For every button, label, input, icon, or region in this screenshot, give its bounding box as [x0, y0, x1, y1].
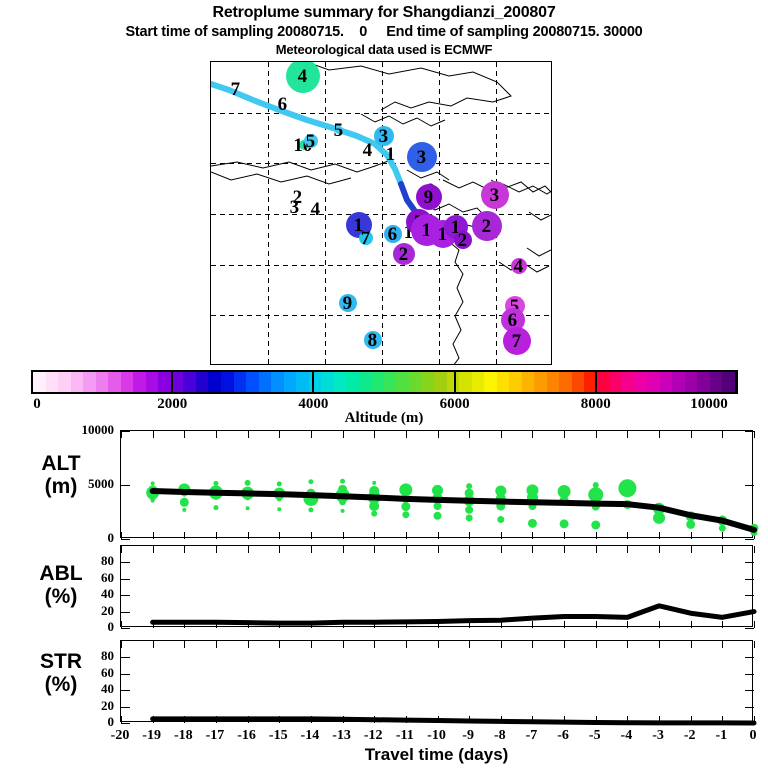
colorbar-cell	[33, 372, 46, 392]
map-marker-label: 4	[311, 200, 321, 219]
colorbar-cell	[346, 372, 359, 392]
alt-y-tick-label: 10000	[40, 422, 114, 438]
map-marker-label: 7	[361, 229, 371, 248]
abl-y-tick-label: 80	[40, 553, 114, 569]
map-marker-label: 6	[388, 225, 398, 244]
x-tick-label: -15	[269, 728, 288, 744]
colorbar-separator	[736, 370, 738, 394]
retroplume-map[interactable]: 4765105431323409176151112322495678	[210, 61, 552, 365]
alt-row-label-line1: ALT	[8, 452, 114, 475]
colorbar-cell	[635, 372, 648, 392]
colorbar-cell	[484, 372, 497, 392]
x-tick-label: -3	[652, 728, 664, 744]
x-tick-label: -20	[111, 728, 130, 744]
str-y-tick-label: 80	[40, 648, 114, 664]
x-tick-label: -7	[526, 728, 538, 744]
colorbar-cell	[83, 372, 96, 392]
colorbar-cell	[71, 372, 84, 392]
alt-y-tick-label: 0	[40, 530, 114, 546]
colorbar-cell	[622, 372, 635, 392]
alt-chart-graphics	[121, 431, 754, 539]
alt-chart-panel[interactable]	[120, 430, 753, 538]
str-y-tick-label: 20	[40, 698, 114, 714]
x-tick-label: -10	[427, 728, 446, 744]
colorbar-cell	[321, 372, 334, 392]
map-marker-label: 7	[512, 332, 522, 351]
colorbar-cell	[133, 372, 146, 392]
colorbar-cell	[547, 372, 560, 392]
colorbar-cell	[309, 372, 322, 392]
abl-y-tick-label: 60	[40, 570, 114, 586]
colorbar-separator	[171, 370, 173, 394]
str-y-tick-label: 0	[40, 714, 114, 730]
str-y-tick-label: 60	[40, 665, 114, 681]
colorbar-axis-title: Altitude (m)	[0, 410, 768, 427]
map-marker-label: 7	[231, 80, 241, 99]
colorbar-cell	[58, 372, 71, 392]
str-chart-panel[interactable]	[120, 640, 753, 722]
map-marker-label: 8	[368, 331, 378, 350]
colorbar-cell	[522, 372, 535, 392]
colorbar-cell	[572, 372, 585, 392]
colorbar-cell	[196, 372, 209, 392]
colorbar-cell	[208, 372, 221, 392]
colorbar-cell	[396, 372, 409, 392]
map-marker-label: 5	[306, 132, 316, 151]
abl-chart-panel[interactable]	[120, 545, 753, 627]
abl-y-tick-label: 20	[40, 603, 114, 619]
x-tick-label: -11	[396, 728, 414, 744]
x-tick-label: -5	[589, 728, 601, 744]
map-marker-label: 2	[399, 245, 409, 264]
colorbar-cell	[472, 372, 485, 392]
x-tick-label: -2	[684, 728, 696, 744]
x-tick-label: -1	[716, 728, 728, 744]
x-tick-label: -13	[332, 728, 351, 744]
colorbar-cell	[710, 372, 723, 392]
str-chart-graphics	[121, 641, 754, 723]
colorbar-cell	[534, 372, 547, 392]
colorbar-cell	[459, 372, 472, 392]
colorbar-cell	[284, 372, 297, 392]
colorbar-cell	[497, 372, 510, 392]
colorbar-cell	[221, 372, 234, 392]
colorbar-cell	[434, 372, 447, 392]
alt-y-tick-label: 5000	[40, 476, 114, 492]
map-marker-label: 5	[334, 121, 344, 140]
colorbar-cell	[359, 372, 372, 392]
map-marker-label: 9	[424, 188, 434, 207]
colorbar-cell	[559, 372, 572, 392]
colorbar-cell	[409, 372, 422, 392]
colorbar-cell	[158, 372, 171, 392]
colorbar-cell	[509, 372, 522, 392]
colorbar-separator	[312, 370, 314, 394]
colorbar-cell	[647, 372, 660, 392]
map-marker-label: 3	[379, 127, 389, 146]
colorbar-cell	[121, 372, 134, 392]
colorbar-cell	[108, 372, 121, 392]
sampling-time-subtitle: Start time of sampling 20080715. 0 End t…	[0, 23, 768, 42]
colorbar-cell	[597, 372, 610, 392]
colorbar-cell	[296, 372, 309, 392]
x-tick-label: -12	[364, 728, 383, 744]
map-marker-label: 3	[290, 198, 300, 217]
altitude-colorbar	[31, 370, 737, 394]
colorbar-cell	[421, 372, 434, 392]
colorbar-cell	[660, 372, 673, 392]
map-marker-label: 9	[343, 294, 353, 313]
colorbar-cell	[334, 372, 347, 392]
map-marker-label: 4	[363, 141, 373, 160]
colorbar-cell	[183, 372, 196, 392]
x-tick-label: -19	[142, 728, 161, 744]
colorbar-cell	[246, 372, 259, 392]
abl-y-tick-label: 0	[40, 619, 114, 635]
colorbar-cell	[384, 372, 397, 392]
map-marker-label: 2	[458, 231, 468, 250]
x-tick-label: -16	[237, 728, 256, 744]
colorbar-cell	[146, 372, 159, 392]
colorbar-cell	[46, 372, 59, 392]
map-marker-label: 6	[278, 95, 288, 114]
colorbar-cell	[697, 372, 710, 392]
met-data-subtitle: Meteorological data used is ECMWF	[0, 42, 768, 58]
colorbar-cell	[371, 372, 384, 392]
colorbar-cell	[722, 372, 735, 392]
x-tick-label: 0	[750, 728, 757, 744]
title-block: Retroplume summary for Shangdianzi_20080…	[0, 0, 768, 58]
abl-chart-graphics	[121, 546, 754, 628]
x-axis-title: Travel time (days)	[120, 745, 753, 765]
colorbar-cell	[259, 372, 272, 392]
str-y-tick-label: 40	[40, 681, 114, 697]
map-marker-label: 1	[386, 145, 396, 164]
page-title: Retroplume summary for Shangdianzi_20080…	[0, 3, 768, 23]
x-tick-label: -4	[621, 728, 633, 744]
colorbar-cell	[234, 372, 247, 392]
map-marker-label: 4	[298, 67, 308, 86]
colorbar-cell	[96, 372, 109, 392]
colorbar-cell	[609, 372, 622, 392]
x-tick-label: -9	[462, 728, 474, 744]
x-tick-label: -17	[206, 728, 225, 744]
x-tick-label: -6	[557, 728, 569, 744]
map-marker-label: 3	[490, 186, 500, 205]
x-tick-label: -8	[494, 728, 506, 744]
colorbar-separator	[595, 370, 597, 394]
map-marker-label: 4	[514, 257, 524, 276]
colorbar-cell	[672, 372, 685, 392]
colorbar-cell	[685, 372, 698, 392]
colorbar-cell	[271, 372, 284, 392]
colorbar-separator	[454, 370, 456, 394]
abl-y-tick-label: 40	[40, 586, 114, 602]
x-tick-label: -14	[301, 728, 320, 744]
x-tick-label: -18	[174, 728, 193, 744]
map-marker-label: 3	[417, 148, 427, 167]
map-marker-label: 2	[482, 217, 492, 236]
